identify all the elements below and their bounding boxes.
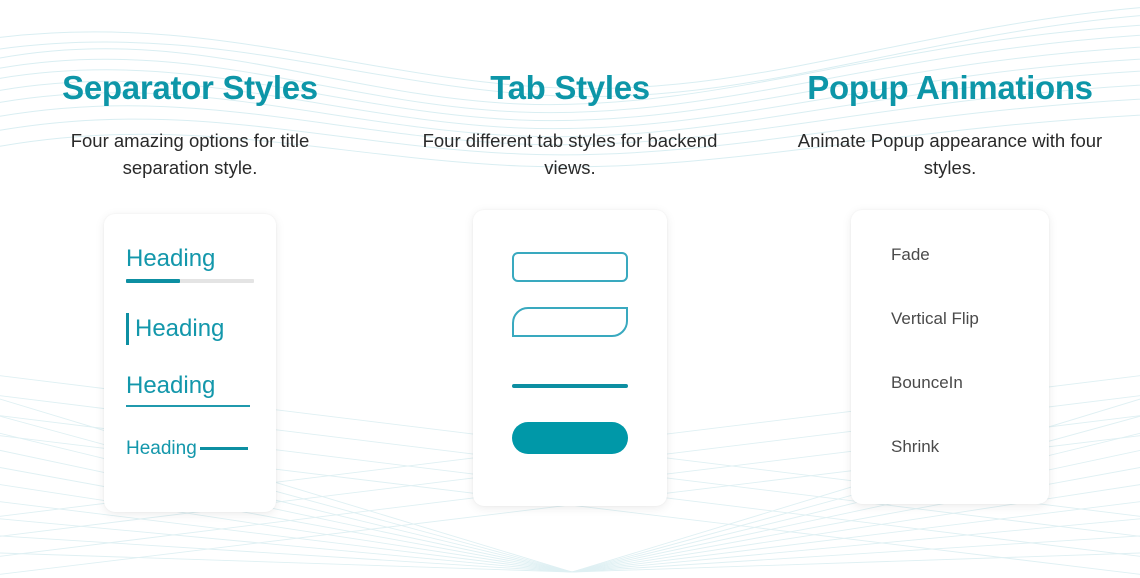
separator-option-underline-full[interactable]: Heading (104, 373, 276, 407)
column-title: Tab Styles (490, 70, 650, 106)
separator-rule-side (200, 447, 248, 450)
popup-animation-item[interactable]: Vertical Flip (851, 310, 979, 327)
column-tab-styles: Tab Styles Four different tab styles for… (380, 0, 760, 506)
separator-heading-label: Heading (126, 439, 197, 460)
column-title: Popup Animations (807, 70, 1092, 106)
separator-vertical-bar (126, 313, 129, 345)
separator-heading-label: Heading (135, 316, 224, 342)
popup-animation-item[interactable]: Shrink (851, 438, 939, 455)
separator-rule-split (126, 279, 254, 283)
tab-preview-card (473, 210, 667, 506)
tab-style-filled-pill[interactable] (512, 422, 628, 454)
column-subtitle: Four amazing options for title separatio… (25, 128, 355, 182)
separator-option-right-line[interactable]: Heading (104, 439, 276, 460)
feature-columns: Separator Styles Four amazing options fo… (0, 0, 1140, 578)
popup-animation-card: Fade Vertical Flip BounceIn Shrink (851, 210, 1049, 504)
column-subtitle: Animate Popup appearance with four style… (785, 128, 1115, 182)
column-subtitle: Four different tab styles for backend vi… (405, 128, 735, 182)
separator-heading-label: Heading (126, 373, 262, 399)
separator-heading-label: Heading (126, 246, 262, 272)
separator-option-left-bar[interactable]: Heading (104, 313, 276, 345)
tab-style-diagonal-corners[interactable] (512, 307, 628, 337)
separator-preview-card: Heading Heading Heading Heading (104, 214, 276, 512)
separator-rule-full (126, 405, 250, 407)
column-title: Separator Styles (62, 70, 318, 106)
tab-style-outlined-rect[interactable] (512, 252, 628, 282)
separator-option-underline-split[interactable]: Heading (104, 246, 276, 283)
popup-animation-item[interactable]: BounceIn (851, 374, 963, 391)
column-popup-animations: Popup Animations Animate Popup appearanc… (760, 0, 1140, 504)
tab-style-underline-bar[interactable] (512, 384, 628, 388)
column-separator-styles: Separator Styles Four amazing options fo… (0, 0, 380, 512)
popup-animation-item[interactable]: Fade (851, 246, 930, 263)
